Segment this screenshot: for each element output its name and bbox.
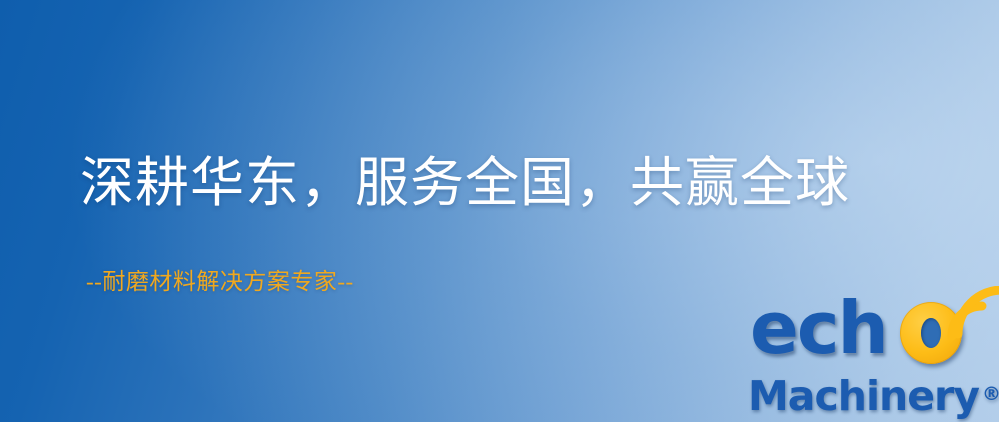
logo-company-text: Machinery: [748, 372, 979, 420]
banner-subtitle: --耐磨材料解决方案专家--: [86, 268, 354, 296]
banner-headline: 深耕华东，服务全国，共赢全球: [80, 152, 850, 214]
logo-mark: ech: [748, 296, 998, 370]
logo-wordmark-echo: ech: [750, 292, 887, 364]
company-logo: ech Machinery®: [748, 296, 998, 422]
logo-company-name: Machinery®: [748, 372, 999, 418]
registered-trademark-icon: ®: [982, 383, 999, 405]
signal-waves-icon: [944, 286, 999, 350]
hero-banner: 深耕华东，服务全国，共赢全球 --耐磨材料解决方案专家-- ech Machin…: [0, 0, 999, 422]
